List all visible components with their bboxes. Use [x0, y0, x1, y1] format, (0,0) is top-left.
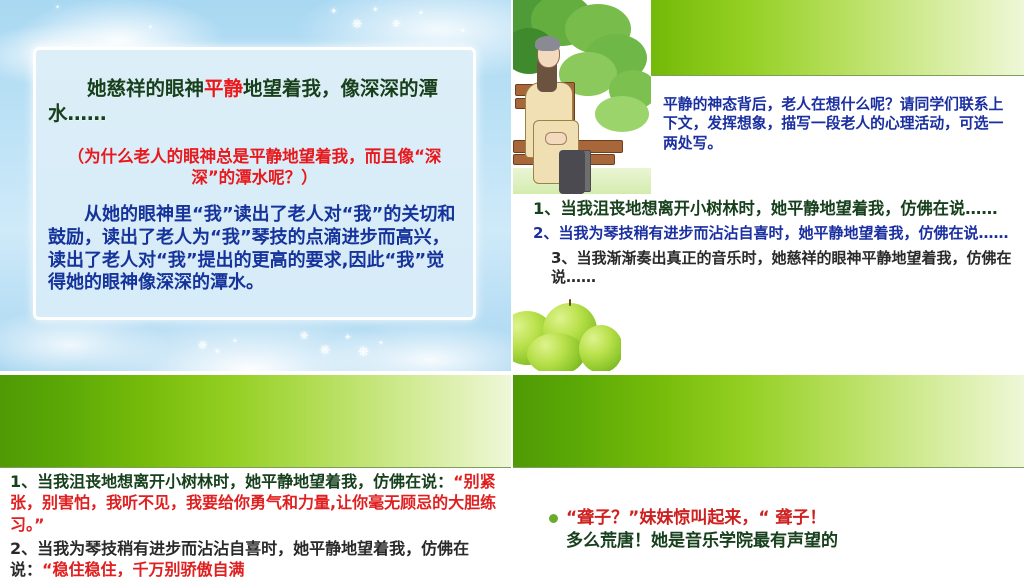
para1-highlight: 平静: [204, 77, 243, 100]
dialogue-line-2: 多么荒唐！她是音乐学院最有声望的: [566, 530, 838, 553]
slide-thumbnail-bottom-left[interactable]: 1、当我沮丧地想离开小树林时，她平静地望着我，仿佛在说：“别紧张，别害怕，我听不…: [0, 375, 511, 577]
paragraph-red-question: （为什么老人的眼神总是平静地望着我，而且像“深深”的潭水呢？）: [48, 146, 461, 188]
list-item: 1、当我沮丧地想离开小树林时，她平静地望着我，仿佛在说：“别紧张，别害怕，我听不…: [10, 471, 506, 535]
panel-divider-vertical: [511, 0, 513, 577]
dialogue-line-1: “聋子？”妹妹惊叫起来，“ 聋子！: [566, 508, 826, 528]
slide-thumbnail-top-right[interactable]: 平静的神态背后，老人在想什么呢？请同学们联系上下文，发挥想象，描写一段老人的心理…: [513, 0, 1024, 371]
bullet-dot-icon: [549, 514, 558, 523]
slide-thumbnail-top-left[interactable]: ✦ ❋ ✦ ❋ ✦ ✦ ✦ ✦ ❋ ✦ ✦ ❋ ❋ ✦ ❋ ✦ 她慈祥的眼神平静…: [0, 0, 511, 371]
slide-thumbnail-bottom-right[interactable]: “聋子？”妹妹惊叫起来，“ 聋子！ 多么荒唐！她是音乐学院最有声望的: [513, 375, 1024, 577]
green-apples-image: [513, 295, 621, 371]
paragraph-blue-answer: 从她的眼神里“我”读出了老人对“我”的关切和鼓励，读出了老人为“我”琴技的点滴进…: [48, 204, 461, 295]
list-item-number: 1、: [10, 472, 37, 491]
list-item-lead: 当我沮丧地想离开小树林时，她平静地望着我，仿佛在说：: [37, 472, 453, 491]
apple-stem: [569, 299, 571, 306]
list-item: 2、当我为琴技稍有进步而沾沾自喜时，她平静地望着我，仿佛在说：“稳住稳住，千万别…: [10, 538, 506, 577]
list-item-number: 3、: [551, 249, 576, 267]
answer-list: 1、当我沮丧地想离开小树林时，她平静地望着我，仿佛在说：“别紧张，别害怕，我听不…: [10, 471, 506, 577]
panel-divider-horizontal: [0, 371, 1024, 375]
list-item-label: 当我为琴技稍有进步而沾沾自喜时，她平静地望着我，仿佛在说……: [558, 224, 1008, 242]
list-item: 2、当我为琴技稍有进步而沾沾自喜时，她平静地望着我，仿佛在说……: [521, 224, 1021, 244]
list-item: 1、当我沮丧地想离开小树林时，她平静地望着我，仿佛在说……: [521, 198, 1021, 219]
question-text: 平静的神态背后，老人在想什么呢？请同学们联系上下文，发挥想象，描写一段老人的心理…: [663, 95, 1013, 154]
paragraph-green: 她慈祥的眼神平静地望着我，像深深的潭水……: [48, 76, 461, 127]
list-item-quote: “稳住稳住，千万别骄傲自满: [42, 560, 245, 577]
dialogue-bullet: “聋子？”妹妹惊叫起来，“ 聋子！ 多么荒唐！她是音乐学院最有声望的: [549, 507, 1019, 553]
list-item-number: 2、: [533, 224, 558, 242]
list-item-number: 2、: [10, 539, 37, 558]
text-content-box: 她慈祥的眼神平静地望着我，像深深的潭水…… （为什么老人的眼神总是平静地望着我，…: [33, 47, 476, 320]
green-header-bar: [513, 375, 1024, 468]
slide-grid: ✦ ❋ ✦ ❋ ✦ ✦ ✦ ✦ ❋ ✦ ✦ ❋ ❋ ✦ ❋ ✦ 她慈祥的眼神平静…: [0, 0, 1024, 577]
apple: [527, 333, 585, 371]
apple: [579, 325, 621, 371]
list-item-label: 当我渐渐奏出真正的音乐时，她慈祥的眼神平静地望着我，仿佛在说……: [551, 249, 1011, 287]
question-item-list: 1、当我沮丧地想离开小树林时，她平静地望着我，仿佛在说…… 2、当我为琴技稍有进…: [521, 198, 1021, 293]
list-item: 3、当我渐渐奏出真正的音乐时，她慈祥的眼神平静地望着我，仿佛在说……: [521, 249, 1021, 288]
green-header-bar: [0, 375, 511, 468]
list-item-number: 1、: [533, 199, 560, 218]
para1-before: 她慈祥的眼神: [87, 77, 204, 100]
list-item-label: 当我沮丧地想离开小树林时，她平静地望着我，仿佛在说……: [560, 199, 997, 218]
